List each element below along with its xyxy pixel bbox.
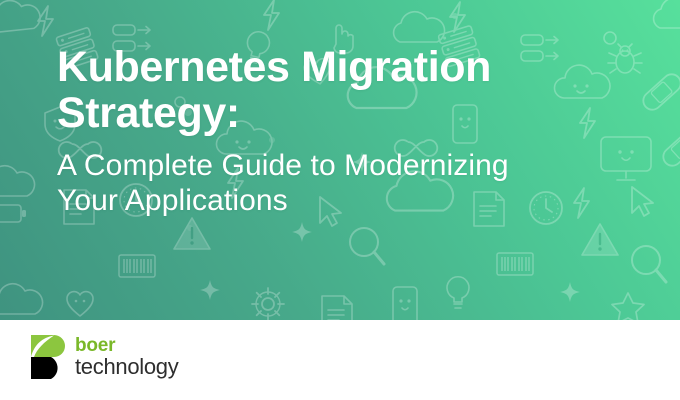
brand-logo[interactable]: boer technology [30, 334, 178, 380]
boer-leaf-logo-icon [30, 334, 66, 380]
page-subtitle: A Complete Guide to Modernizing Your App… [57, 148, 577, 218]
brand-name-technology: technology [75, 356, 178, 378]
page-title: Kubernetes Migration Strategy: [57, 44, 557, 136]
brand-wordmark: boer technology [75, 336, 178, 378]
hero-section: Kubernetes Migration Strategy: A Complet… [0, 0, 680, 320]
footer-bar: boer technology [0, 320, 680, 400]
hero-text-block: Kubernetes Migration Strategy: A Complet… [57, 44, 617, 218]
brand-name-boer: boer [75, 336, 178, 355]
blog-header-banner: Kubernetes Migration Strategy: A Complet… [0, 0, 680, 400]
